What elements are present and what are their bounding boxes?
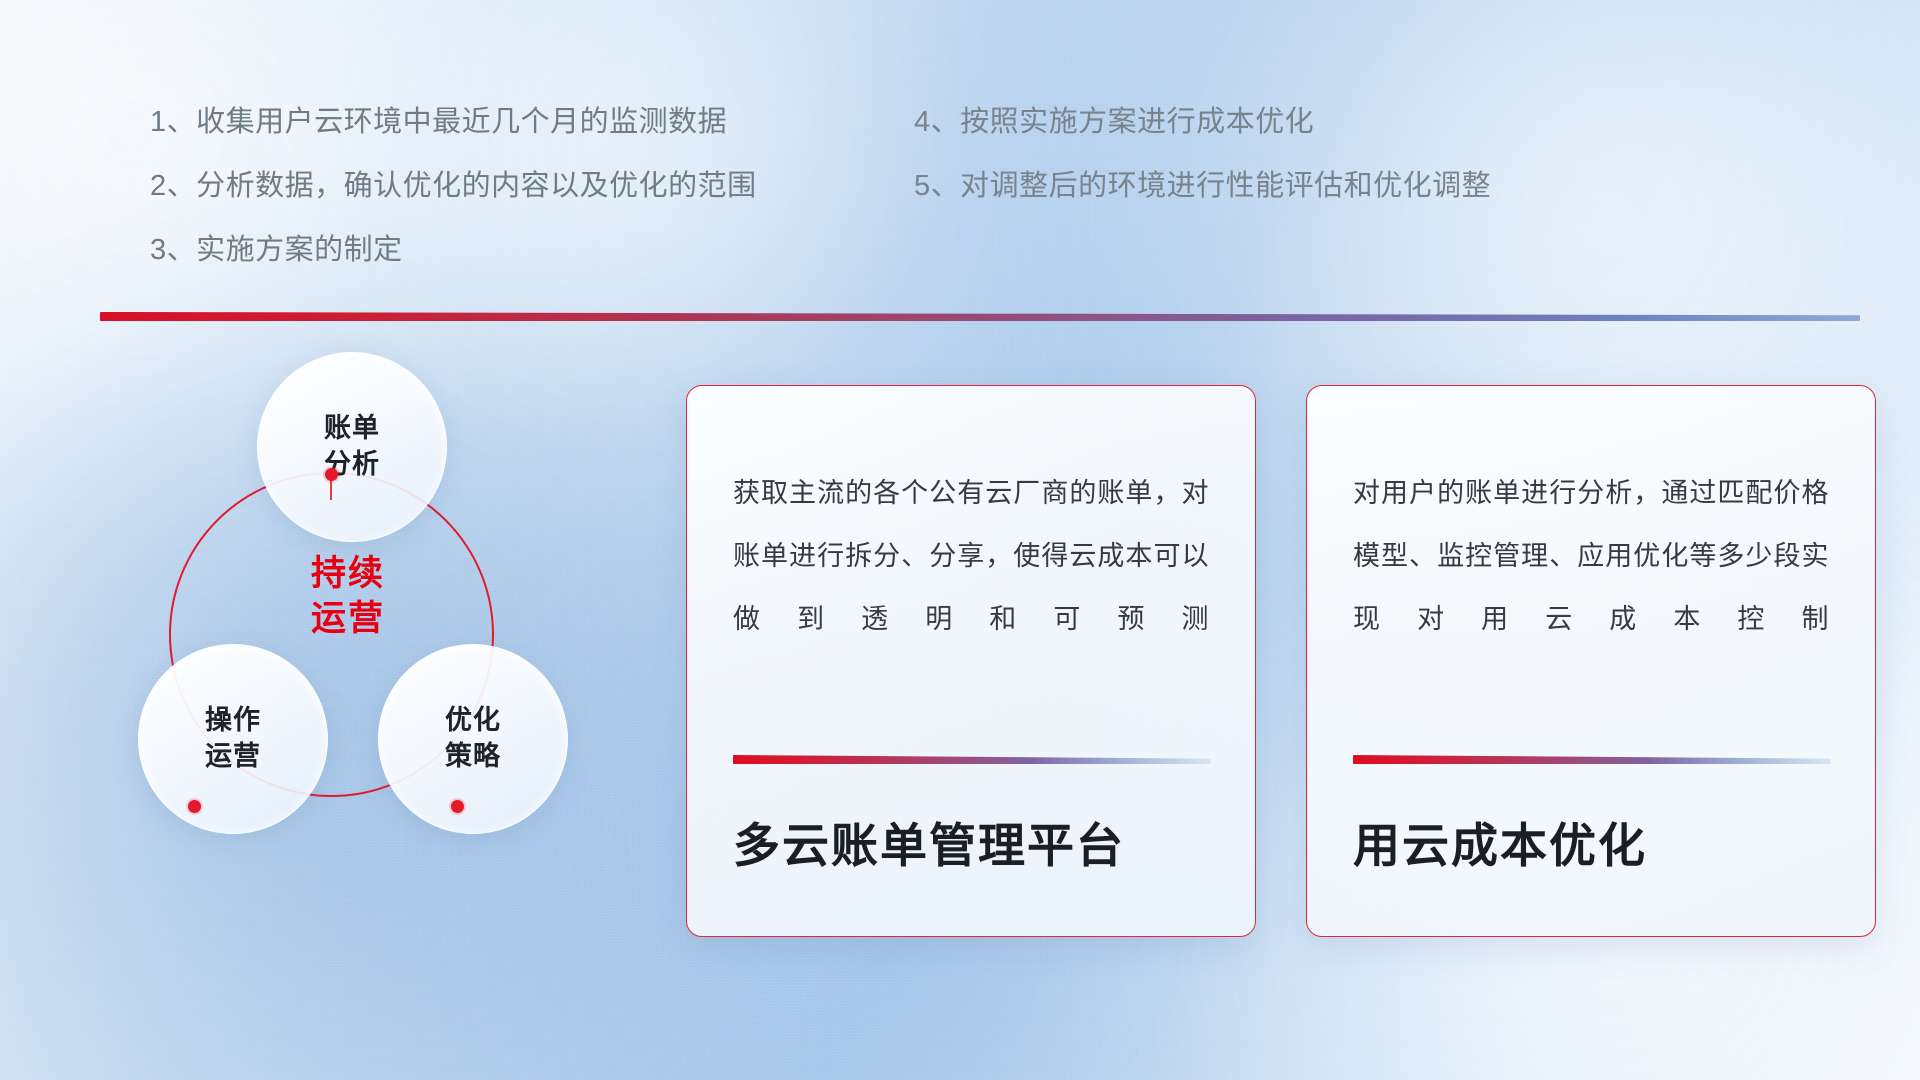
section-divider bbox=[100, 312, 1860, 321]
diagram-center-label: 持续 运营 bbox=[258, 552, 438, 642]
process-step-5: 5、对调整后的环境进行性能评估和优化调整 bbox=[914, 160, 1674, 212]
card-2-title: 用云成本优化 bbox=[1353, 818, 1647, 874]
card-multi-cloud-bill-platform[interactable]: 获取主流的各个公有云厂商的账单，对账单进行拆分、分享，使得云成本可以做到透明和可… bbox=[686, 385, 1256, 937]
diagram-center-label-line2: 运营 bbox=[258, 597, 438, 642]
card-1-description: 获取主流的各个公有云厂商的账单，对账单进行拆分、分享，使得云成本可以做到透明和可… bbox=[733, 462, 1209, 651]
diagram-bubble-operation[interactable]: 操作 运营 bbox=[138, 644, 328, 834]
card-cloud-cost-optimization[interactable]: 对用户的账单进行分析，通过匹配价格模型、监控管理、应用优化等多少段实现对用云成本… bbox=[1306, 385, 1876, 937]
process-step-1: 1、收集用户云环境中最近几个月的监测数据 bbox=[150, 96, 870, 148]
diagram-bubble-optimize-strategy[interactable]: 优化 策略 bbox=[378, 644, 568, 834]
process-step-2: 2、分析数据，确认优化的内容以及优化的范围 bbox=[150, 160, 870, 212]
diagram-node-dot-left bbox=[188, 800, 201, 813]
diagram-node-dot-top bbox=[325, 468, 338, 481]
process-step-3: 3、实施方案的制定 bbox=[150, 224, 870, 276]
diagram-node-stem-top bbox=[330, 478, 332, 500]
card-2-description: 对用户的账单进行分析，通过匹配价格模型、监控管理、应用优化等多少段实现对用云成本… bbox=[1353, 462, 1829, 651]
diagram-bubble-bill-analysis[interactable]: 账单 分析 bbox=[257, 352, 447, 542]
bubble-optimize-strategy-line1: 优化 bbox=[445, 703, 501, 739]
bubble-optimize-strategy-line2: 策略 bbox=[445, 739, 501, 775]
bubble-bill-analysis-line1: 账单 bbox=[324, 411, 380, 447]
process-step-4: 4、按照实施方案进行成本优化 bbox=[914, 96, 1674, 148]
diagram-node-dot-right bbox=[451, 800, 464, 813]
process-steps: 1、收集用户云环境中最近几个月的监测数据 2、分析数据，确认优化的内容以及优化的… bbox=[0, 96, 1920, 286]
diagram-center-label-line1: 持续 bbox=[258, 552, 438, 597]
bubble-operation-line2: 运营 bbox=[205, 739, 261, 775]
process-steps-left-column: 1、收集用户云环境中最近几个月的监测数据 2、分析数据，确认优化的内容以及优化的… bbox=[150, 96, 870, 286]
continuous-operation-diagram: 持续 运营 账单 分析 操作 运营 优化 策略 bbox=[96, 352, 616, 952]
process-steps-right-column: 4、按照实施方案进行成本优化 5、对调整后的环境进行性能评估和优化调整 bbox=[914, 96, 1674, 286]
card-1-title: 多云账单管理平台 bbox=[733, 818, 1125, 874]
bubble-operation-line1: 操作 bbox=[205, 703, 261, 739]
divider-gradient-bar bbox=[100, 312, 1860, 321]
